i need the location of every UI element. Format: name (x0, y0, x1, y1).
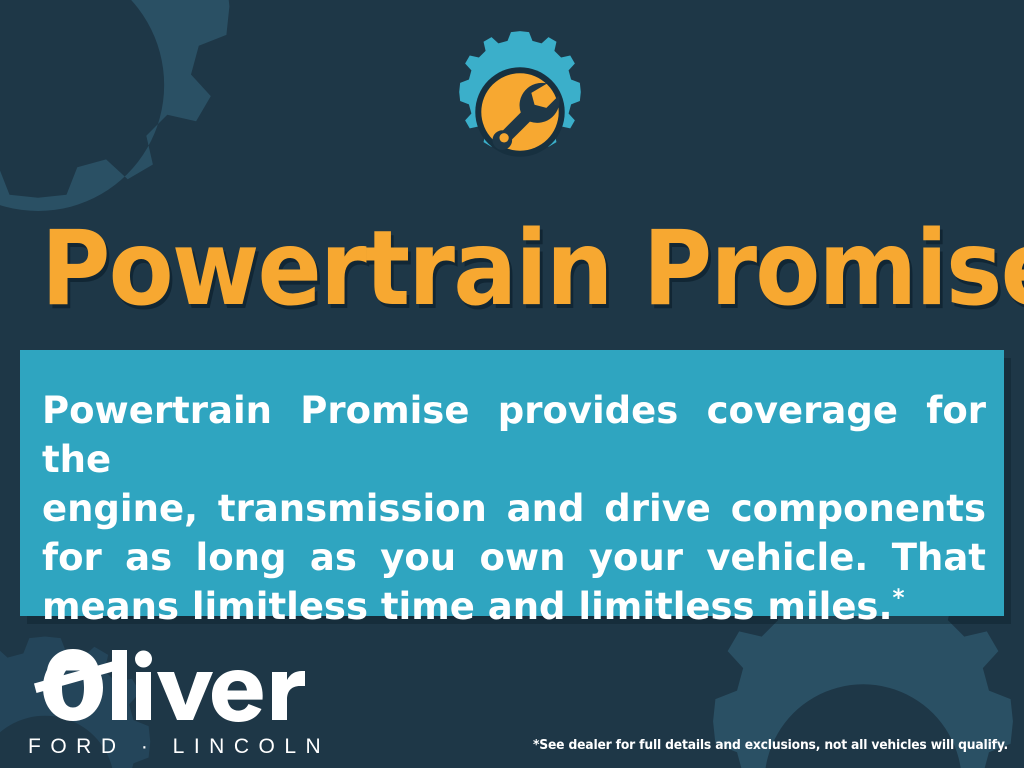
footnote-asterisk-marker: * (893, 586, 905, 612)
promise-line-2: engine, transmission and drive component… (42, 484, 986, 533)
promise-line-4: means limitless time and limitless miles… (42, 582, 986, 631)
gear-wrench-icon (434, 26, 606, 198)
promise-description-text: Powertrain Promise provides coverage for… (42, 386, 986, 631)
promise-line-1: Powertrain Promise provides coverage for… (42, 386, 986, 484)
promise-description-panel: Powertrain Promise provides coverage for… (20, 350, 1004, 616)
page-title: Powertrain Promise (41, 218, 983, 321)
bowler-hat-dome (47, 649, 99, 671)
dealer-logo-subtitle: FORD · LINCOLN (28, 735, 330, 759)
oliver-wordmark (26, 640, 326, 730)
promise-line-4-text: means limitless time and limitless miles… (42, 585, 893, 628)
powertrain-promise-poster: Powertrain Promise Powertrain Promise pr… (0, 0, 1024, 768)
promise-line-3: for as long as you own your vehicle. Tha… (42, 533, 986, 582)
legal-disclaimer: *See dealer for full details and exclusi… (533, 738, 1008, 753)
